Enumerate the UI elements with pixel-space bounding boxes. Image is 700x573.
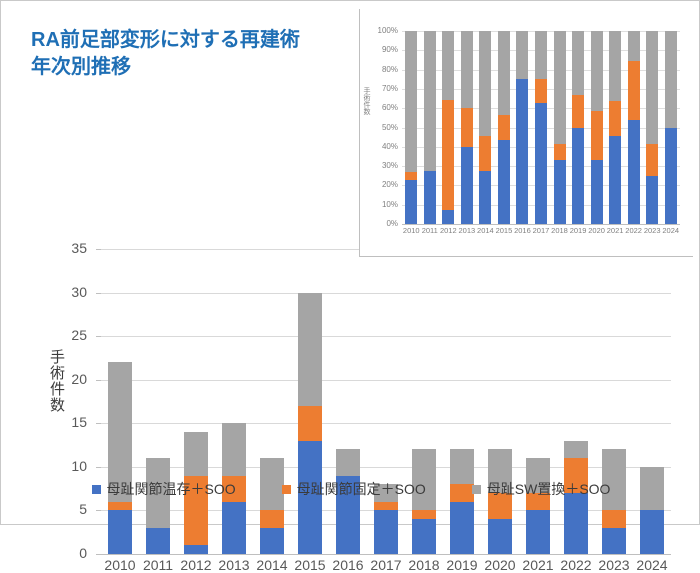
inset-stacked-bar[interactable] <box>516 31 528 224</box>
inset-y-tick-label: 10% <box>364 200 398 209</box>
legend-item-label: 母趾SW置換＋SOO <box>487 479 611 499</box>
inset-bar-column[interactable] <box>606 31 625 224</box>
main-stacked-bar[interactable] <box>336 249 360 554</box>
inset-bar-column[interactable] <box>439 31 458 224</box>
main-bar-segment[interactable] <box>640 510 664 554</box>
inset-y-tick-label: 60% <box>364 103 398 112</box>
main-bar-column[interactable] <box>177 249 215 554</box>
main-bar-segment[interactable] <box>526 510 550 554</box>
main-chart-plot-area: 05101520253035 2010201120122013201420152… <box>101 249 671 554</box>
main-bar-column[interactable] <box>557 249 595 554</box>
inset-stacked-bar[interactable] <box>442 31 454 224</box>
inset-chart-bars <box>402 31 680 224</box>
main-x-tick-label: 2013 <box>215 557 253 573</box>
main-x-tick-label: 2018 <box>405 557 443 573</box>
inset-bar-segment[interactable] <box>628 61 640 120</box>
inset-stacked-bar[interactable] <box>554 31 566 224</box>
inset-bar-segment[interactable] <box>591 111 603 159</box>
main-y-tick-label: 30 <box>47 284 87 300</box>
inset-bar-column[interactable] <box>661 31 680 224</box>
inset-bar-column[interactable] <box>476 31 495 224</box>
main-bar-segment[interactable] <box>374 510 398 554</box>
main-x-tick-label: 2023 <box>595 557 633 573</box>
main-y-tick-label: 0 <box>47 545 87 561</box>
inset-bar-segment[interactable] <box>554 160 566 224</box>
main-bar-segment[interactable] <box>222 502 246 554</box>
inset-bar-segment[interactable] <box>461 108 473 147</box>
main-x-tick-label: 2021 <box>519 557 557 573</box>
inset-bar-segment[interactable] <box>516 79 528 224</box>
inset-bar-segment[interactable] <box>554 31 566 144</box>
inset-bar-segment[interactable] <box>461 147 473 224</box>
inset-bar-segment[interactable] <box>628 120 640 224</box>
inset-bar-column[interactable] <box>421 31 440 224</box>
inset-bar-column[interactable] <box>643 31 662 224</box>
main-x-tick-label: 2017 <box>367 557 405 573</box>
inset-y-tick-label: 30% <box>364 161 398 170</box>
main-stacked-bar[interactable] <box>108 249 132 554</box>
main-chart-bars <box>101 249 671 554</box>
inset-bar-segment[interactable] <box>424 171 436 224</box>
main-bar-segment[interactable] <box>602 528 626 554</box>
main-bar-segment[interactable] <box>564 493 588 554</box>
main-stacked-bar[interactable] <box>412 249 436 554</box>
inset-bar-column[interactable] <box>495 31 514 224</box>
inset-bar-segment[interactable] <box>479 31 491 136</box>
main-y-tick-mark <box>96 554 101 555</box>
main-stacked-bar[interactable] <box>640 249 664 554</box>
inset-x-tick-label: 2024 <box>661 226 680 235</box>
inset-bar-segment[interactable] <box>646 31 658 144</box>
main-stacked-bar[interactable] <box>602 249 626 554</box>
main-y-tick-label: 25 <box>47 327 87 343</box>
main-x-tick-label: 2010 <box>101 557 139 573</box>
main-stacked-bar[interactable] <box>488 249 512 554</box>
inset-bar-column[interactable] <box>513 31 532 224</box>
inset-bar-segment[interactable] <box>646 144 658 176</box>
inset-bar-segment[interactable] <box>591 160 603 224</box>
inset-x-tick-label: 2016 <box>513 226 532 235</box>
inset-bar-column[interactable] <box>587 31 606 224</box>
main-x-tick-label: 2019 <box>443 557 481 573</box>
main-stacked-bar[interactable] <box>146 249 170 554</box>
main-y-tick-label: 20 <box>47 371 87 387</box>
inset-stacked-bar[interactable] <box>628 31 640 224</box>
inset-bar-segment[interactable] <box>609 31 621 101</box>
legend-item[interactable]: 母趾SW置換＋SOO <box>472 479 611 499</box>
inset-stacked-bar[interactable] <box>535 31 547 224</box>
inset-bar-segment[interactable] <box>572 128 584 225</box>
main-bar-segment[interactable] <box>184 545 208 554</box>
main-bar-column[interactable] <box>253 249 291 554</box>
inset-stacked-bar[interactable] <box>498 31 510 224</box>
main-stacked-bar[interactable] <box>450 249 474 554</box>
chart-legend: 母趾関節温存＋SOO母趾関節固定＋SOO母趾SW置換＋SOO <box>1 479 700 499</box>
inset-bar-segment[interactable] <box>442 31 454 100</box>
main-bar-column[interactable] <box>291 249 329 554</box>
inset-bar-segment[interactable] <box>498 31 510 115</box>
main-x-tick-label: 2015 <box>291 557 329 573</box>
main-bar-segment[interactable] <box>298 406 322 441</box>
main-bar-segment[interactable] <box>412 510 436 519</box>
gray-square-icon <box>472 485 481 494</box>
inset-x-tick-label: 2015 <box>495 226 514 235</box>
legend-item[interactable]: 母趾関節固定＋SOO <box>282 479 426 499</box>
inset-x-tick-label: 2012 <box>439 226 458 235</box>
inset-y-tick-label: 50% <box>364 123 398 132</box>
inset-y-tick-label: 20% <box>364 180 398 189</box>
inset-bar-segment[interactable] <box>405 31 417 171</box>
main-bar-segment[interactable] <box>336 449 360 475</box>
main-bar-segment[interactable] <box>260 510 284 527</box>
legend-item-label: 母趾関節固定＋SOO <box>297 479 426 499</box>
inset-bar-segment[interactable] <box>628 31 640 61</box>
orange-square-icon <box>282 485 291 494</box>
inset-x-tick-label: 2019 <box>569 226 588 235</box>
inset-bar-segment[interactable] <box>498 115 510 141</box>
inset-stacked-bar[interactable] <box>424 31 436 224</box>
inset-bar-segment[interactable] <box>442 100 454 210</box>
inset-x-tick-label: 2020 <box>587 226 606 235</box>
main-bar-segment[interactable] <box>602 510 626 527</box>
main-bar-column[interactable] <box>481 249 519 554</box>
inset-bar-segment[interactable] <box>646 176 658 224</box>
inset-bar-column[interactable] <box>402 31 421 224</box>
main-stacked-bar[interactable] <box>374 249 398 554</box>
inset-x-tick-label: 2010 <box>402 226 421 235</box>
inset-bar-column[interactable] <box>458 31 477 224</box>
main-bar-segment[interactable] <box>184 432 208 476</box>
page-title: RA前足部変形に対する再建術 年次別推移 <box>31 27 361 81</box>
main-bar-segment[interactable] <box>146 528 170 554</box>
main-bar-column[interactable] <box>101 249 139 554</box>
main-x-tick-label: 2016 <box>329 557 367 573</box>
inset-stacked-bar[interactable] <box>405 31 417 224</box>
main-bar-column[interactable] <box>215 249 253 554</box>
main-y-tick-label: 15 <box>47 414 87 430</box>
inset-bar-segment[interactable] <box>424 31 436 171</box>
inset-bar-segment[interactable] <box>665 128 677 225</box>
inset-stacked-bar[interactable] <box>609 31 621 224</box>
inset-stacked-bar[interactable] <box>479 31 491 224</box>
main-stacked-bar[interactable] <box>222 249 246 554</box>
inset-bar-column[interactable] <box>550 31 569 224</box>
inset-bar-segment[interactable] <box>591 31 603 111</box>
inset-y-tick-label: 80% <box>364 65 398 74</box>
main-gridline <box>101 554 671 555</box>
inset-x-tick-label: 2023 <box>643 226 662 235</box>
inset-x-tick-label: 2017 <box>532 226 551 235</box>
main-bar-segment[interactable] <box>412 519 436 554</box>
inset-y-tick-label: 70% <box>364 84 398 93</box>
main-bar-segment[interactable] <box>108 510 132 554</box>
main-bar-column[interactable] <box>519 249 557 554</box>
inset-bar-segment[interactable] <box>516 31 528 79</box>
inset-x-tick-label: 2018 <box>550 226 569 235</box>
inset-y-tick-label: 90% <box>364 45 398 54</box>
legend-item-label: 母趾関節温存＋SOO <box>107 479 236 499</box>
main-y-tick-label: 5 <box>47 501 87 517</box>
page-title-line-2: 年次別推移 <box>31 54 361 81</box>
main-stacked-bar[interactable] <box>260 249 284 554</box>
inset-bar-segment[interactable] <box>609 136 621 224</box>
inset-chart-plot-area: 0%10%20%30%40%50%60%70%80%90%100% 201020… <box>402 31 680 224</box>
blue-square-icon <box>92 485 101 494</box>
inset-bar-segment[interactable] <box>498 140 510 224</box>
main-bar-segment[interactable] <box>222 423 246 475</box>
main-bar-column[interactable] <box>595 249 633 554</box>
inset-bar-segment[interactable] <box>461 31 473 108</box>
main-bar-segment[interactable] <box>488 519 512 554</box>
inset-gridline <box>402 224 680 225</box>
inset-x-tick-label: 2011 <box>421 226 440 235</box>
inset-x-tick-label: 2022 <box>624 226 643 235</box>
main-bar-segment[interactable] <box>564 441 588 458</box>
inset-bar-column[interactable] <box>532 31 551 224</box>
inset-bar-column[interactable] <box>624 31 643 224</box>
main-bar-segment[interactable] <box>108 502 132 511</box>
main-bar-column[interactable] <box>443 249 481 554</box>
inset-bar-segment[interactable] <box>535 31 547 79</box>
main-stacked-bar[interactable] <box>298 249 322 554</box>
inset-bar-segment[interactable] <box>572 95 584 127</box>
main-x-tick-label: 2014 <box>253 557 291 573</box>
inset-bar-segment[interactable] <box>535 79 547 103</box>
inset-x-tick-label: 2021 <box>606 226 625 235</box>
main-x-tick-label: 2022 <box>557 557 595 573</box>
inset-stacked-bar[interactable] <box>591 31 603 224</box>
inset-chart: 手術件数 0%10%20%30%40%50%60%70%80%90%100% 2… <box>359 9 693 257</box>
legend-item[interactable]: 母趾関節温存＋SOO <box>92 479 236 499</box>
inset-stacked-bar[interactable] <box>646 31 658 224</box>
inset-stacked-bar[interactable] <box>572 31 584 224</box>
main-bar-segment[interactable] <box>260 528 284 554</box>
inset-bar-column[interactable] <box>569 31 588 224</box>
main-x-tick-label: 2011 <box>139 557 177 573</box>
inset-y-tick-label: 40% <box>364 142 398 151</box>
main-x-tick-label: 2020 <box>481 557 519 573</box>
inset-y-tick-label: 0% <box>364 219 398 228</box>
slide-canvas: RA前足部変形に対する再建術 年次別推移 手術件数 05101520253035… <box>0 0 700 525</box>
inset-x-tick-label: 2013 <box>458 226 477 235</box>
inset-bar-segment[interactable] <box>479 136 491 171</box>
inset-y-tick-label: 100% <box>364 26 398 35</box>
main-bar-segment[interactable] <box>298 293 322 406</box>
inset-bar-segment[interactable] <box>572 31 584 95</box>
inset-bar-segment[interactable] <box>479 171 491 224</box>
inset-bar-segment[interactable] <box>665 31 677 128</box>
inset-bar-segment[interactable] <box>554 144 566 160</box>
inset-bar-segment[interactable] <box>609 101 621 136</box>
inset-bar-segment[interactable] <box>442 210 454 224</box>
main-bar-segment[interactable] <box>450 502 474 554</box>
main-bar-column[interactable] <box>405 249 443 554</box>
main-y-tick-label: 35 <box>47 240 87 256</box>
main-bar-column[interactable] <box>633 249 671 554</box>
inset-bar-segment[interactable] <box>405 180 417 224</box>
main-stacked-bar[interactable] <box>564 249 588 554</box>
inset-x-tick-label: 2014 <box>476 226 495 235</box>
main-bar-column[interactable] <box>329 249 367 554</box>
inset-stacked-bar[interactable] <box>461 31 473 224</box>
main-bar-column[interactable] <box>139 249 177 554</box>
main-bar-segment[interactable] <box>374 502 398 511</box>
inset-bar-segment[interactable] <box>405 172 417 181</box>
main-bar-column[interactable] <box>367 249 405 554</box>
page-title-line-1: RA前足部変形に対する再建術 <box>31 27 361 54</box>
main-stacked-bar[interactable] <box>184 249 208 554</box>
main-x-tick-label: 2012 <box>177 557 215 573</box>
inset-bar-segment[interactable] <box>535 103 547 224</box>
main-stacked-bar[interactable] <box>526 249 550 554</box>
main-y-tick-label: 10 <box>47 458 87 474</box>
main-x-tick-label: 2024 <box>633 557 671 573</box>
inset-stacked-bar[interactable] <box>665 31 677 224</box>
